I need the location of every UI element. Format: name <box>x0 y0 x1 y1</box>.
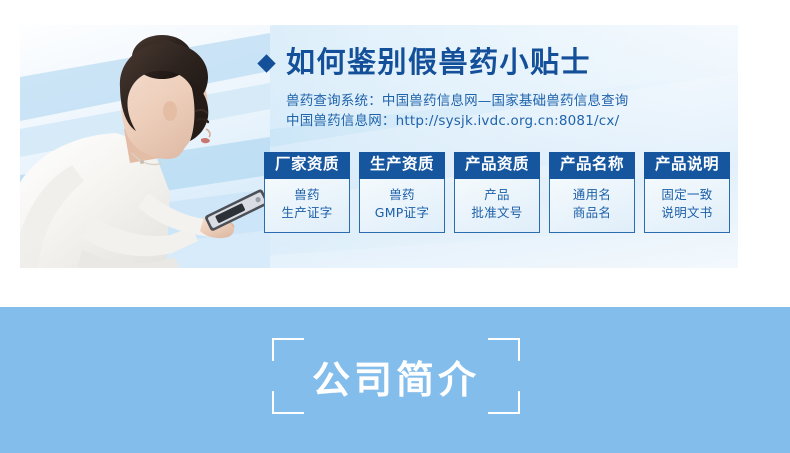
banner-title: 如何鉴别假兽药小贴士 <box>286 47 591 79</box>
banner-subtitle-line-1: 兽药查询系统：中国兽药信息网—国家基础兽药信息查询 <box>286 91 730 112</box>
card-header: 厂家资质 <box>264 152 350 179</box>
banner-subtitle-line-2: 中国兽药信息网：http://sysjk.ivdc.org.cn:8081/cx… <box>286 111 730 132</box>
qualification-card: 厂家资质 兽药 生产证字 <box>264 152 350 233</box>
card-body: 产品 批准文号 <box>454 179 540 233</box>
card-body-line-2: GMP证字 <box>360 204 444 223</box>
qualification-card: 产品名称 通用名 商品名 <box>549 152 635 233</box>
card-header: 产品说明 <box>644 152 730 179</box>
card-header: 产品名称 <box>549 152 635 179</box>
qualification-card: 产品说明 固定一致 说明文书 <box>644 152 730 233</box>
banner-title-row: 如何鉴别假兽药小贴士 <box>260 47 730 79</box>
card-header: 生产资质 <box>359 152 445 179</box>
card-body-line-1: 产品 <box>455 186 539 205</box>
woman-reading-phone-photo <box>20 25 270 268</box>
card-body-line-1: 通用名 <box>550 186 634 205</box>
card-body: 兽药 生产证字 <box>264 179 350 233</box>
card-body: 兽药 GMP证字 <box>359 179 445 233</box>
card-body-line-2: 批准文号 <box>455 204 539 223</box>
card-header: 产品资质 <box>454 152 540 179</box>
section-title-frame: 公司简介 <box>272 338 520 414</box>
diamond-bullet-icon <box>257 55 275 73</box>
card-body-line-1: 兽药 <box>360 186 444 205</box>
card-body: 通用名 商品名 <box>549 179 635 233</box>
card-body-line-2: 说明文书 <box>645 204 729 223</box>
banner-subtitle-group: 兽药查询系统：中国兽药信息网—国家基础兽药信息查询 中国兽药信息网：http:/… <box>286 91 730 132</box>
section-title: 公司简介 <box>272 338 520 414</box>
banner-headline-block: 如何鉴别假兽药小贴士 兽药查询系统：中国兽药信息网—国家基础兽药信息查询 中国兽… <box>260 47 730 132</box>
card-body-line-2: 商品名 <box>550 204 634 223</box>
card-body: 固定一致 说明文书 <box>644 179 730 233</box>
card-body-line-1: 固定一致 <box>645 186 729 205</box>
qualification-card: 生产资质 兽药 GMP证字 <box>359 152 445 233</box>
card-body-line-2: 生产证字 <box>265 204 349 223</box>
qualification-card: 产品资质 产品 批准文号 <box>454 152 540 233</box>
qualification-card-row: 厂家资质 兽药 生产证字 生产资质 兽药 GMP证字 产品资质 产品 批准文号 … <box>264 152 730 233</box>
card-body-line-1: 兽药 <box>265 186 349 205</box>
